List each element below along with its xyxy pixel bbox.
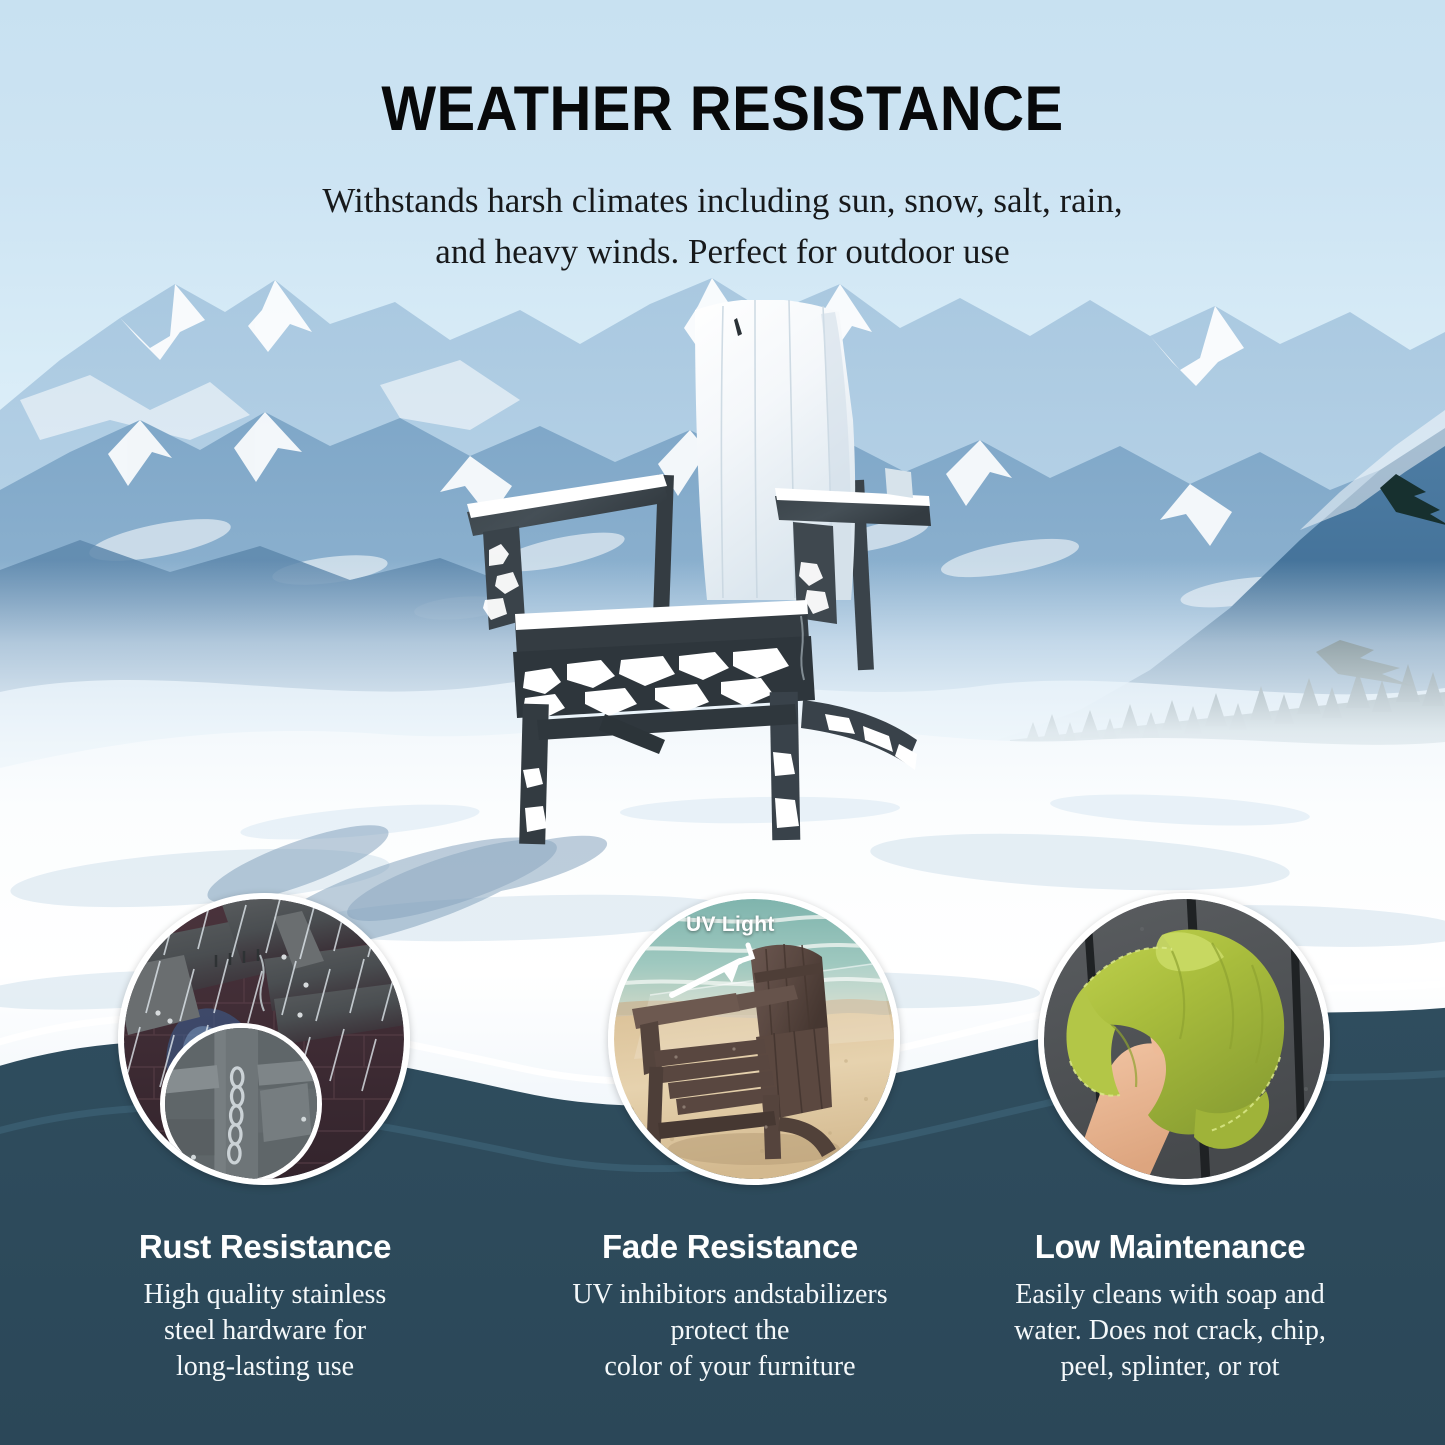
feature-caption-fade-resistance: Fade Resistance UV inhibitors andstabili… xyxy=(520,1228,940,1384)
feature-body-line: long-lasting use xyxy=(55,1349,475,1385)
feature-image-fade-resistance: UV Light xyxy=(608,893,900,1185)
feature-body-line: High quality stainless xyxy=(55,1277,475,1313)
low-maintenance-photo xyxy=(1044,899,1324,1179)
feature-title-low-maintenance: Low Maintenance xyxy=(960,1228,1380,1266)
feature-body-fade-resistance: UV inhibitors andstabilizers protect the… xyxy=(520,1277,940,1384)
page-title: WEATHER RESISTANCE xyxy=(58,78,1387,141)
feature-body-line: peel, splinter, or rot xyxy=(960,1349,1380,1385)
feature-body-line: Easily cleans with soap and xyxy=(960,1277,1380,1313)
feature-image-low-maintenance xyxy=(1038,893,1330,1185)
feature-body-line: protect the xyxy=(520,1313,940,1349)
infographic-canvas: WEATHER RESISTANCE Withstands harsh clim… xyxy=(0,0,1445,1445)
feature-title-fade-resistance: Fade Resistance xyxy=(520,1228,940,1266)
feature-body-line: color of your furniture xyxy=(520,1349,940,1385)
rust-resistance-inset-detail xyxy=(160,1023,322,1185)
subtitle-line-2: and heavy winds. Perfect for outdoor use xyxy=(243,227,1203,278)
feature-body-rust-resistance: High quality stainless steel hardware fo… xyxy=(55,1277,475,1384)
feature-caption-low-maintenance: Low Maintenance Easily cleans with soap … xyxy=(960,1228,1380,1384)
feature-body-line: water. Does not crack, chip, xyxy=(960,1313,1380,1349)
uv-light-arrow-icon xyxy=(614,899,900,1185)
page-subtitle: Withstands harsh climates including sun,… xyxy=(243,176,1203,278)
feature-title-rust-resistance: Rust Resistance xyxy=(55,1228,475,1266)
feature-image-rust-resistance xyxy=(118,893,410,1185)
feature-body-line: steel hardware for xyxy=(55,1313,475,1349)
feature-body-low-maintenance: Easily cleans with soap and water. Does … xyxy=(960,1277,1380,1384)
subtitle-line-1: Withstands harsh climates including sun,… xyxy=(243,176,1203,227)
feature-caption-rust-resistance: Rust Resistance High quality stainless s… xyxy=(55,1228,475,1384)
hero-snow-covered-chair xyxy=(455,300,955,860)
uv-light-label: UV Light xyxy=(686,913,775,937)
feature-body-line: UV inhibitors andstabilizers xyxy=(520,1277,940,1313)
